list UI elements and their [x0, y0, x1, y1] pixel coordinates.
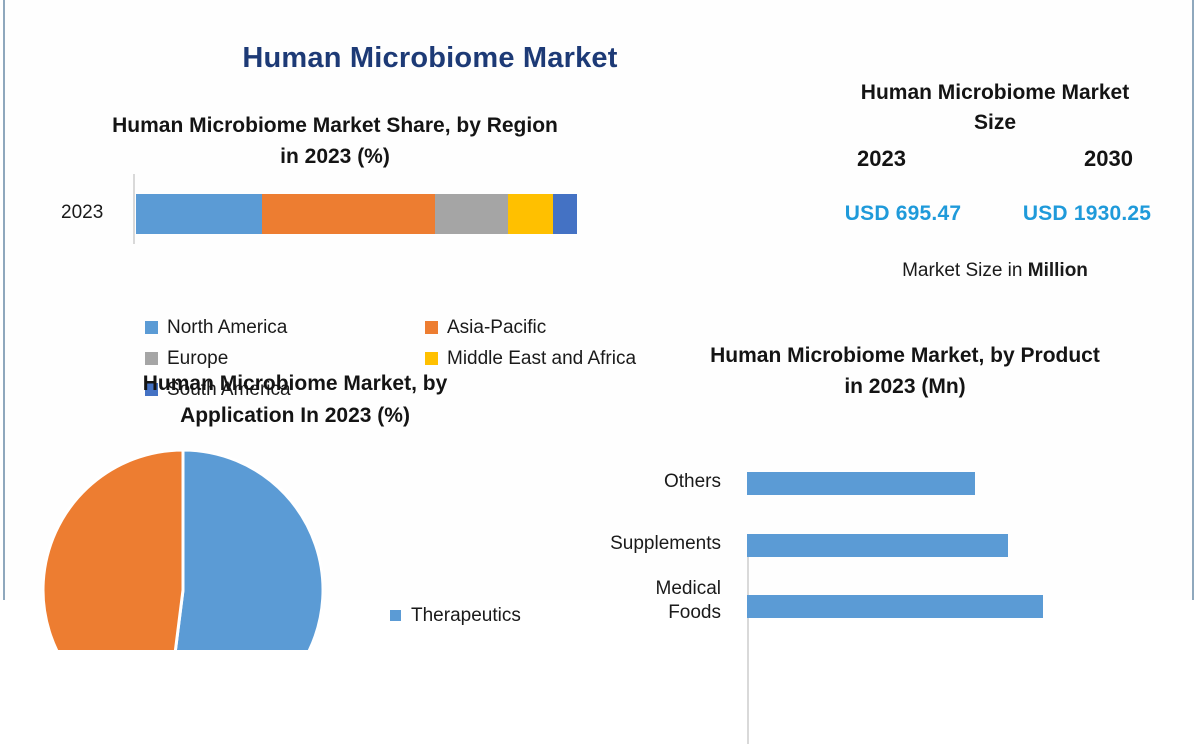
- region-segment-asia-pacific[interactable]: [262, 194, 435, 234]
- product-bar-others[interactable]: [747, 472, 975, 495]
- region-stacked-bar-chart: 2023: [5, 180, 705, 250]
- market-size-year-base: 2023: [857, 146, 906, 172]
- application-panel: Human Microbiome Market, by Application …: [45, 368, 605, 432]
- region-chart-title-line2: in 2023 (%): [5, 141, 665, 172]
- market-size-value-base: USD 695.47: [813, 202, 993, 226]
- region-chart-title: Human Microbiome Market Share, by Region…: [5, 110, 665, 172]
- product-bar-medical-foods[interactable]: [747, 595, 1043, 618]
- region-legend-label: Europe: [167, 348, 228, 370]
- pie-svg: [43, 450, 343, 650]
- product-bar-supplements[interactable]: [747, 534, 1008, 557]
- region-legend-label: Asia-Pacific: [447, 317, 546, 339]
- legend-swatch-icon: [425, 352, 438, 365]
- market-size-value-forecast: USD 1930.25: [997, 202, 1177, 226]
- market-size-footnote-prefix: Market Size in: [902, 260, 1028, 281]
- application-legend: Therapeutics: [390, 600, 521, 631]
- legend-swatch-icon: [390, 610, 401, 621]
- product-row-others: Others: [605, 480, 1200, 533]
- market-size-title-line2: Size: [817, 108, 1173, 138]
- market-size-title-line1: Human Microbiome Market: [817, 78, 1173, 108]
- page-title: Human Microbiome Market: [5, 42, 855, 75]
- product-label-supplements: Supplements: [541, 532, 721, 556]
- region-legend-label: North America: [167, 317, 287, 339]
- market-size-values-row: USD 695.47 USD 1930.25: [795, 202, 1195, 226]
- legend-swatch-icon: [145, 352, 158, 365]
- region-share-panel: Human Microbiome Market Share, by Region…: [5, 110, 705, 250]
- application-chart-title-line2: Application In 2023 (%): [45, 400, 545, 432]
- product-panel: Human Microbiome Market, by Product in 2…: [605, 340, 1200, 680]
- legend-swatch-icon: [145, 321, 158, 334]
- infographic-frame: Market Growth Human Microbiome Market Hu…: [3, 0, 1194, 600]
- region-legend-item-north-america[interactable]: North America: [145, 312, 425, 343]
- product-chart-title: Human Microbiome Market, by Product in 2…: [605, 340, 1200, 402]
- region-stacked-bar: [136, 194, 577, 234]
- product-row-medical-foods: MedicalFoods: [605, 586, 1200, 639]
- product-bar-chart: Others Supplements MedicalFoods: [605, 480, 1200, 680]
- market-size-year-forecast: 2030: [1084, 146, 1133, 172]
- region-segment-middle-east-africa[interactable]: [508, 194, 553, 234]
- region-chart-title-line1: Human Microbiome Market Share, by Region: [5, 110, 665, 141]
- application-chart-title-line1: Human Microbiome Market, by: [45, 368, 545, 400]
- application-chart-title: Human Microbiome Market, by Application …: [45, 368, 545, 432]
- pie-slice-therapeutics[interactable]: [166, 450, 324, 650]
- region-axis-line: [133, 174, 135, 244]
- product-chart-title-line2: in 2023 (Mn): [605, 371, 1200, 402]
- pie-slice-supplements[interactable]: [43, 450, 183, 650]
- region-category-label: 2023: [61, 202, 103, 224]
- product-chart-title-line1: Human Microbiome Market, by Product: [605, 340, 1200, 371]
- market-size-years-row: 2023 2030: [795, 146, 1195, 172]
- market-size-footnote: Market Size in Million: [795, 260, 1195, 282]
- market-size-panel: Human Microbiome Market Size 2023 2030 U…: [795, 78, 1195, 282]
- application-legend-item-therapeutics[interactable]: Therapeutics: [390, 600, 521, 631]
- legend-swatch-icon: [425, 321, 438, 334]
- region-segment-south-america[interactable]: [553, 194, 577, 234]
- market-size-footnote-unit: Million: [1028, 260, 1088, 281]
- region-segment-europe[interactable]: [435, 194, 508, 234]
- region-legend-item-asia-pacific[interactable]: Asia-Pacific: [425, 312, 705, 343]
- region-segment-north-america[interactable]: [136, 194, 262, 234]
- product-label-medical-foods: MedicalFoods: [541, 577, 721, 625]
- application-legend-label: Therapeutics: [411, 605, 521, 627]
- product-label-others: Others: [541, 470, 721, 494]
- market-size-title: Human Microbiome Market Size: [795, 78, 1195, 138]
